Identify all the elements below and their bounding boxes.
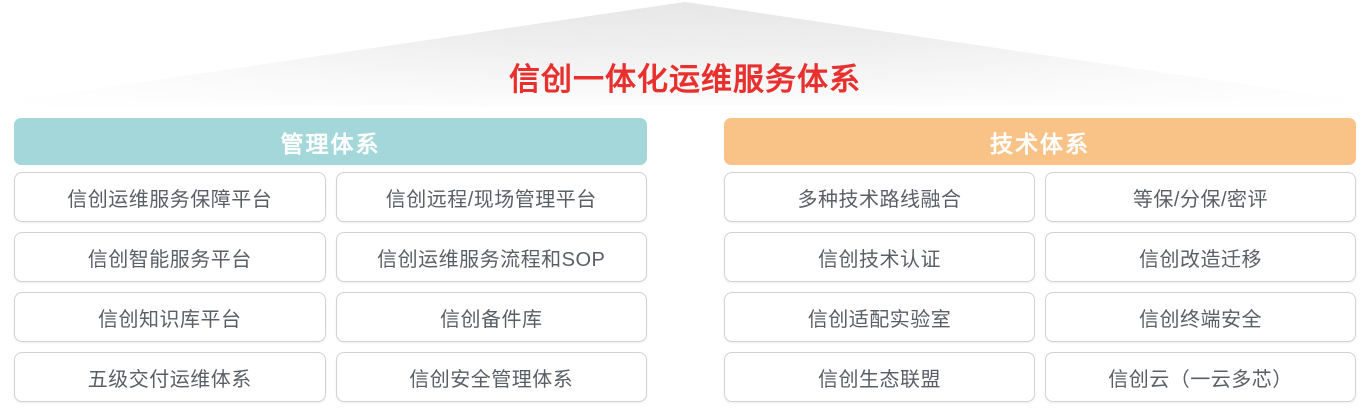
list-item[interactable]: 信创云（一云多芯） — [1045, 352, 1356, 402]
diagram-canvas: 信创一体化运维服务体系 管理体系 信创运维服务保障平台 信创远程/现场管理平台 … — [0, 0, 1370, 418]
table-row: 信创适配实验室 信创终端安全 — [724, 292, 1356, 342]
group-technology: 技术体系 多种技术路线融合 等保/分保/密评 信创技术认证 信创改造迁移 信创适… — [724, 118, 1356, 402]
list-item[interactable]: 信创改造迁移 — [1045, 232, 1356, 282]
list-item[interactable]: 五级交付运维体系 — [14, 352, 326, 402]
list-item[interactable]: 信创远程/现场管理平台 — [336, 172, 648, 222]
table-row: 五级交付运维体系 信创安全管理体系 — [14, 352, 647, 402]
list-item[interactable]: 信创适配实验室 — [724, 292, 1035, 342]
list-item[interactable]: 信创知识库平台 — [14, 292, 326, 342]
list-item[interactable]: 等保/分保/密评 — [1045, 172, 1356, 222]
card-grid-technology: 多种技术路线融合 等保/分保/密评 信创技术认证 信创改造迁移 信创适配实验室 … — [724, 172, 1356, 402]
group-header-management: 管理体系 — [14, 118, 647, 165]
list-item[interactable]: 信创终端安全 — [1045, 292, 1356, 342]
group-header-technology: 技术体系 — [724, 118, 1356, 165]
list-item[interactable]: 信创运维服务保障平台 — [14, 172, 326, 222]
table-row: 多种技术路线融合 等保/分保/密评 — [724, 172, 1356, 222]
group-management: 管理体系 信创运维服务保障平台 信创远程/现场管理平台 信创智能服务平台 信创运… — [14, 118, 647, 402]
table-row: 信创知识库平台 信创备件库 — [14, 292, 647, 342]
table-row: 信创生态联盟 信创云（一云多芯） — [724, 352, 1356, 402]
table-row: 信创智能服务平台 信创运维服务流程和SOP — [14, 232, 647, 282]
list-item[interactable]: 信创运维服务流程和SOP — [336, 232, 648, 282]
list-item[interactable]: 多种技术路线融合 — [724, 172, 1035, 222]
list-item[interactable]: 信创生态联盟 — [724, 352, 1035, 402]
card-grid-management: 信创运维服务保障平台 信创远程/现场管理平台 信创智能服务平台 信创运维服务流程… — [14, 172, 647, 402]
table-row: 信创技术认证 信创改造迁移 — [724, 232, 1356, 282]
list-item[interactable]: 信创智能服务平台 — [14, 232, 326, 282]
list-item[interactable]: 信创安全管理体系 — [336, 352, 648, 402]
list-item[interactable]: 信创备件库 — [336, 292, 648, 342]
page-title: 信创一体化运维服务体系 — [0, 60, 1370, 100]
list-item[interactable]: 信创技术认证 — [724, 232, 1035, 282]
table-row: 信创运维服务保障平台 信创远程/现场管理平台 — [14, 172, 647, 222]
